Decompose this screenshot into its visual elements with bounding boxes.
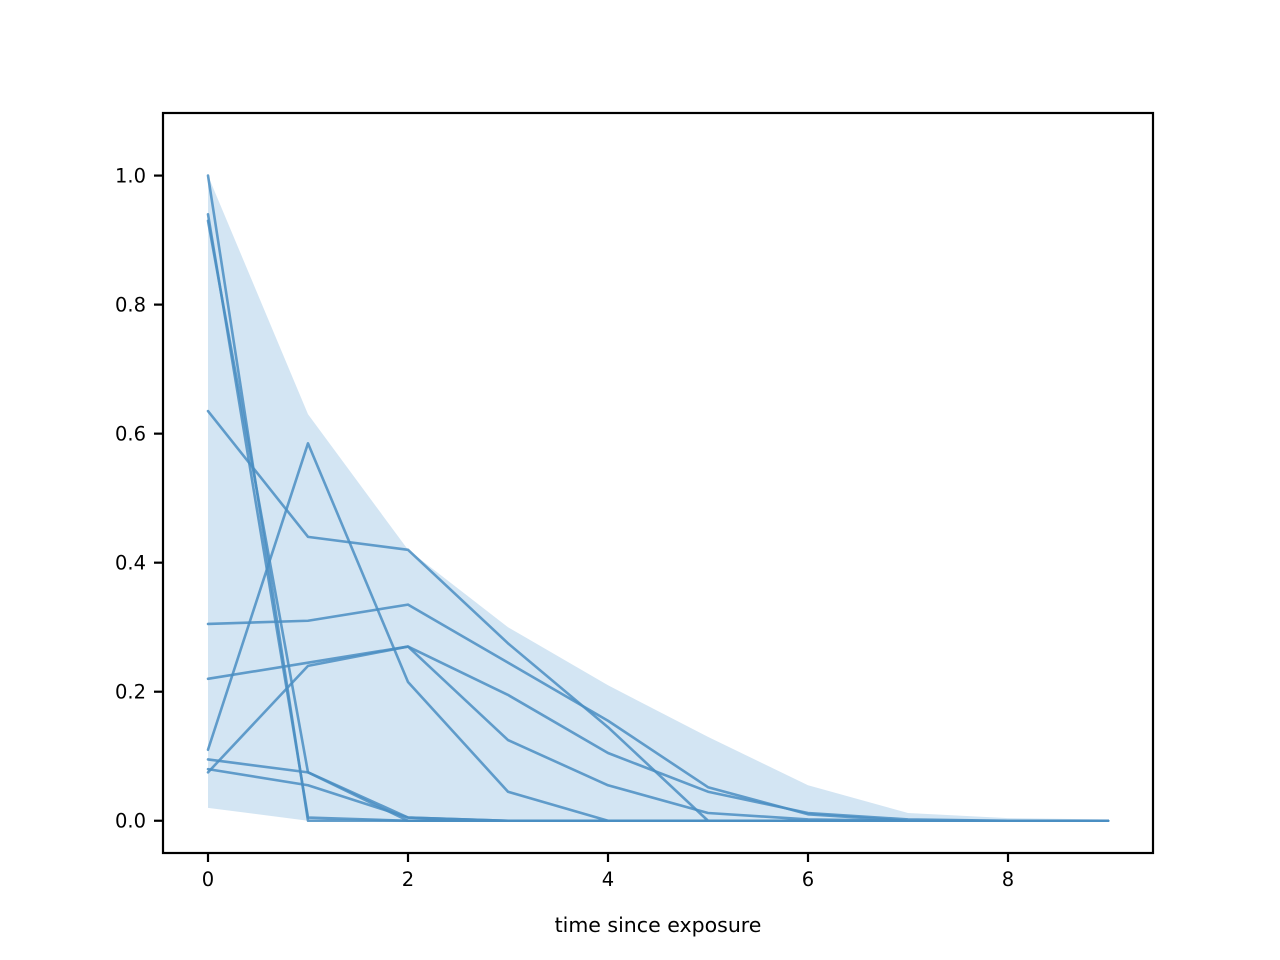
x-tick-label: 0 bbox=[202, 868, 214, 891]
y-tick-label: 0.0 bbox=[115, 810, 146, 833]
x-tick-label: 8 bbox=[1002, 868, 1014, 891]
chart-plot-area: 024680.00.20.40.60.81.0 time since expos… bbox=[0, 0, 1280, 960]
y-tick-label: 0.4 bbox=[115, 552, 146, 575]
x-tick-label: 4 bbox=[602, 868, 614, 891]
y-tick-label: 0.2 bbox=[115, 681, 146, 704]
x-tick-label: 2 bbox=[402, 868, 414, 891]
y-tick-label: 0.6 bbox=[115, 423, 146, 446]
confidence-band bbox=[208, 176, 1108, 821]
y-tick-label: 1.0 bbox=[115, 165, 146, 188]
band-layer bbox=[208, 176, 1108, 821]
x-tick-label: 6 bbox=[802, 868, 814, 891]
figure-canvas: 024680.00.20.40.60.81.0 time since expos… bbox=[0, 0, 1280, 960]
x-axis-label: time since exposure bbox=[555, 913, 762, 937]
y-tick-label: 0.8 bbox=[115, 294, 146, 317]
